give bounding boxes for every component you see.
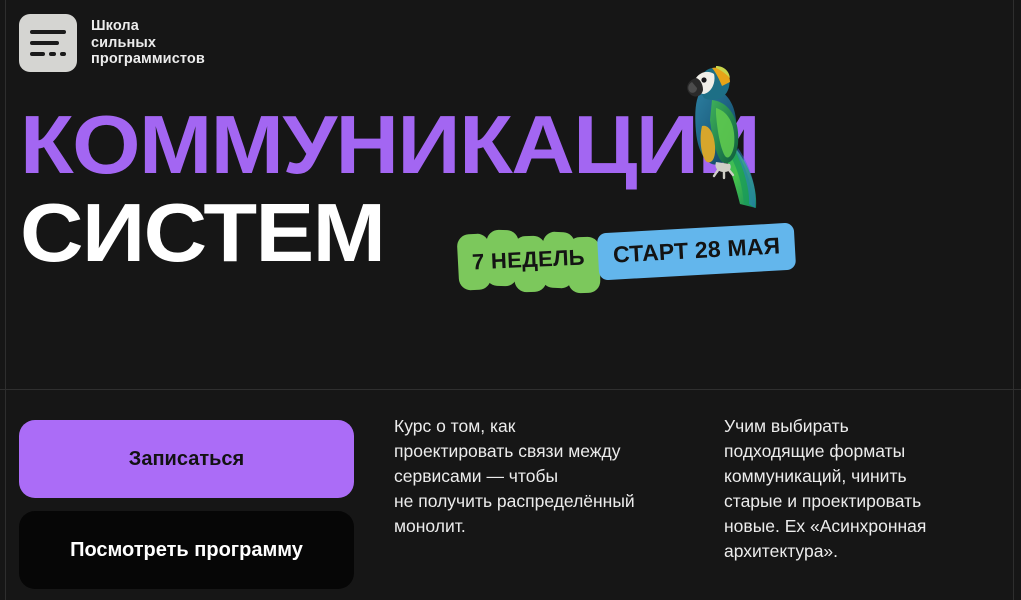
logo-line-2 [30,41,59,45]
headline-line-2: СИСТЕМ [20,192,384,274]
macaw-parrot-illustration [672,52,780,212]
logo-dashes [30,52,66,56]
cta-group: Записаться Посмотреть программу [19,420,354,589]
hero-section: Школа сильных программистов [0,0,1021,389]
intro-section: Записаться Посмотреть программу Курс о т… [0,390,1021,600]
description-text-middle: Курс о том, как проектировать связи межд… [394,414,706,539]
view-program-button[interactable]: Посмотреть программу [19,511,354,589]
description-column-middle: Курс о том, как проектировать связи межд… [394,414,706,539]
badge-start-date-label: СТАРТ 28 МАЯ [612,232,781,267]
right-border-rule [1013,0,1014,600]
headline-line-1: КОММУНИКАЦИИ [20,104,759,186]
badge-duration: 7 НЕДЕЛЬ [458,232,608,290]
brand-logo[interactable]: Школа сильных программистов [19,14,205,72]
document-lines-icon [19,14,77,72]
logo-line-1 [30,30,66,34]
brand-name: Школа сильных программистов [91,18,205,68]
badge-duration-label: 7 НЕДЕЛЬ [471,245,585,276]
section-divider [0,389,1021,390]
badge-start-date: СТАРТ 28 МАЯ [597,223,797,281]
left-border-rule [5,0,6,600]
enroll-button[interactable]: Записаться [19,420,354,498]
description-column-right: Учим выбирать подходящие форматы коммуни… [724,414,1004,564]
description-text-right: Учим выбирать подходящие форматы коммуни… [724,414,1004,564]
landing-page: Школа сильных программистов [0,0,1021,600]
